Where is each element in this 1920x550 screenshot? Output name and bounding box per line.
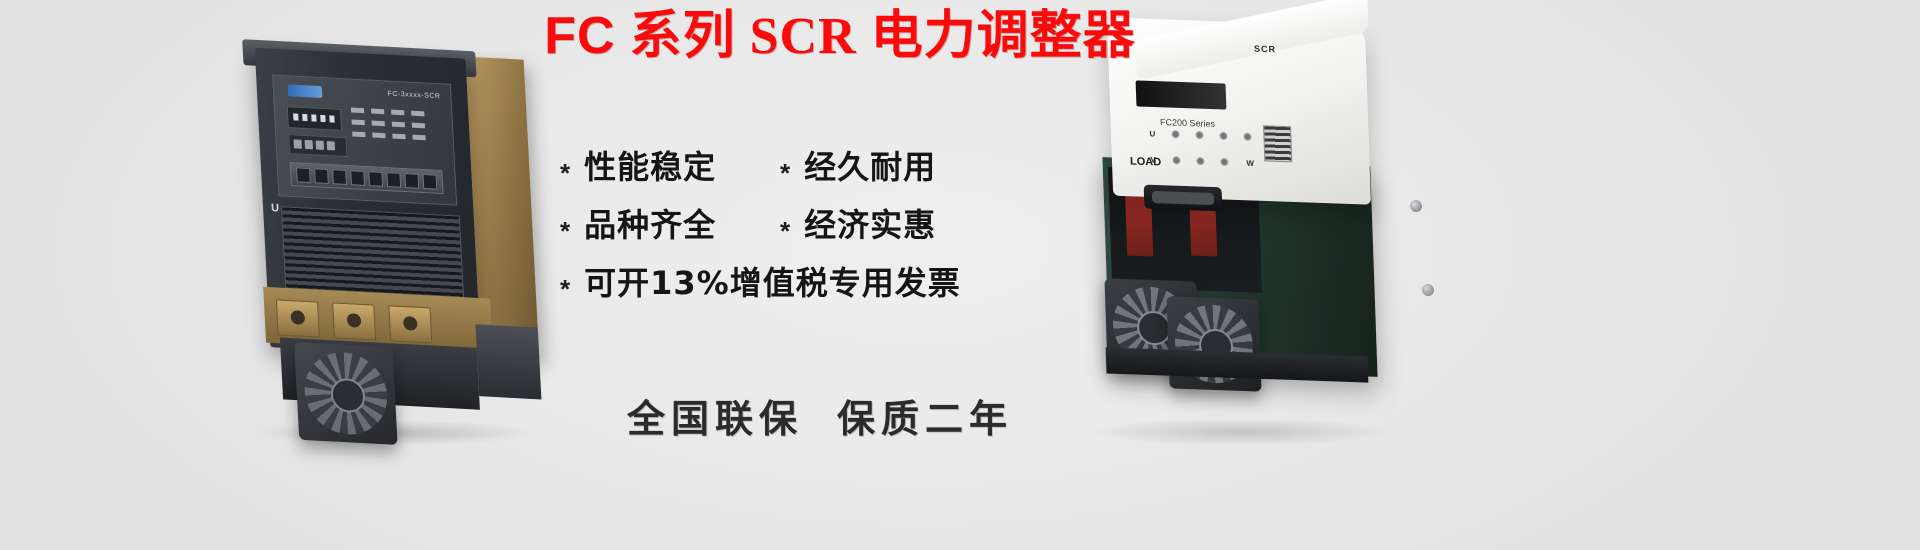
title-part-fc: FC (544, 7, 615, 65)
feature-row-1: * 性能稳定 * 经久耐用 (560, 142, 1000, 200)
feature-item-variety: * 品种齐全 (560, 200, 780, 246)
feature-label-invoice-prefix: 可开 (584, 258, 650, 304)
feature-item-durable: * 经久耐用 (780, 142, 936, 188)
right-product-bolt-1 (1410, 200, 1422, 213)
bullet-star-icon: * (780, 158, 790, 189)
left-product-cooling-fan (294, 342, 398, 445)
left-product-led-display (287, 106, 342, 131)
bullet-star-icon: * (780, 216, 790, 247)
right-product-image: SCR FC200 Series U V W LOAD (1040, 22, 1440, 442)
right-product-brand-text: SCR (1254, 44, 1276, 55)
slogan-part-warranty: 保质二年 (837, 396, 1013, 441)
feature-row-3: * 可开 13% 增值税专用发票 (560, 258, 1000, 316)
warranty-slogan: 全国联保保质二年 (560, 388, 1080, 443)
left-product-label-marks (351, 107, 446, 164)
feature-item-invoice: * 可开 13% 增值税专用发票 (560, 258, 961, 304)
feature-list: * 性能稳定 * 经久耐用 * 品种齐全 * 经济实惠 * 可开 13% (560, 142, 1000, 316)
right-product-vent-slots (1263, 125, 1292, 162)
title-part-series: 系列 (630, 6, 736, 66)
right-product-handle (1144, 185, 1223, 212)
feature-label-economical: 经济实惠 (804, 200, 936, 246)
feature-label-variety: 品种齐全 (584, 200, 716, 246)
feature-label-invoice-suffix: 增值税专用发票 (730, 258, 961, 304)
bullet-star-icon: * (560, 158, 570, 189)
feature-item-economical: * 经济实惠 (780, 200, 936, 246)
left-product-logo (288, 84, 323, 98)
right-product-indicator-panel: U V W (1149, 119, 1301, 180)
left-product-vent-grille (281, 206, 464, 301)
left-product-side-panel (475, 324, 541, 399)
right-product-black-label (1136, 80, 1227, 109)
feature-item-stable: * 性能稳定 (560, 142, 780, 188)
slogan-part-nationwide: 全国联保 (627, 396, 803, 441)
left-product-model-text: FC-3xxxx-SCR (387, 90, 440, 100)
feature-label-durable: 经久耐用 (804, 142, 936, 188)
right-product-load-label: LOAD (1130, 155, 1162, 168)
left-product-dip-switches (288, 134, 347, 157)
feature-label-invoice-rate: 13% (650, 264, 730, 302)
feature-row-2: * 品种齐全 * 经济实惠 (560, 200, 1000, 258)
feature-label-stable: 性能稳定 (584, 142, 716, 188)
left-product-image: FC-3xxxx-SCR U V (233, 35, 544, 450)
right-product-bolt-2 (1422, 284, 1434, 297)
left-product-terminal-block (290, 162, 444, 194)
left-product-control-panel: FC-3xxxx-SCR (272, 74, 457, 205)
title-part-scr: SCR (750, 8, 857, 65)
bullet-star-icon: * (560, 274, 570, 305)
bullet-star-icon: * (560, 216, 570, 247)
product-banner: FC-3xxxx-SCR U V (0, 0, 1920, 550)
